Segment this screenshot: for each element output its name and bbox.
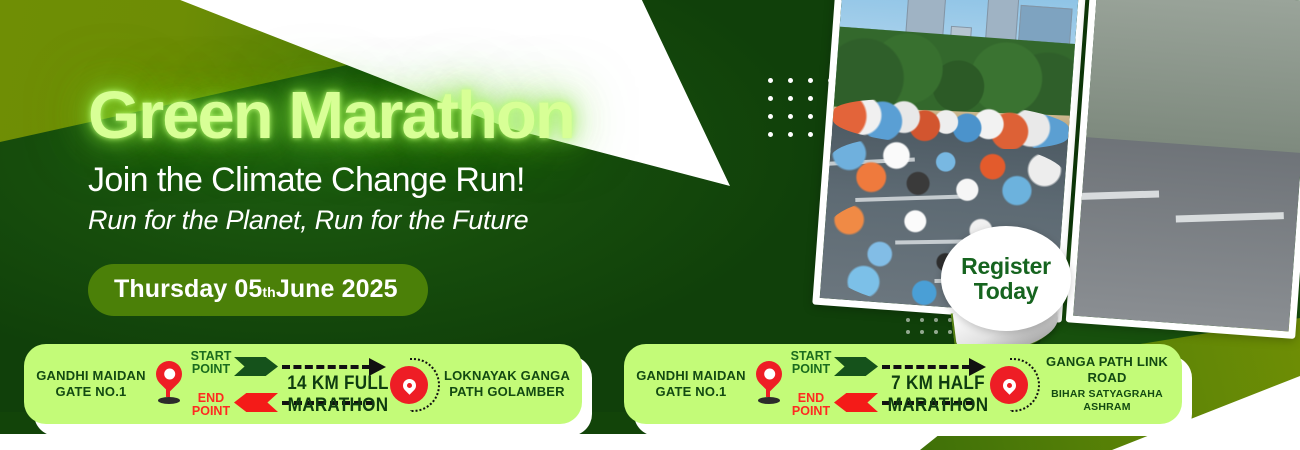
- marathon-banner: 40557 40472: [0, 0, 1300, 450]
- event-date-badge: Thursday 05 th June 2025: [88, 264, 428, 316]
- outbound-dashed-line-full: [282, 365, 370, 369]
- page-title: Green Marathon: [88, 82, 728, 149]
- map-pin-icon-full: [152, 359, 186, 409]
- destination-name-full: LOKNAYAK GANGA PATH GOLAMBER: [444, 368, 570, 399]
- badge-line-2: Today: [974, 279, 1039, 303]
- register-today-badge[interactable]: Register Today: [941, 226, 1071, 331]
- start-point-label-full: START POINT: [188, 350, 234, 376]
- route-destination-half: GANGA PATH LINK ROAD BIHAR SATYAGRAHA AS…: [1042, 354, 1172, 415]
- route-destination-full: LOKNAYAK GANGA PATH GOLAMBER: [442, 368, 572, 401]
- route-origin-full: GANDHI MAIDAN GATE NO.1: [32, 368, 150, 401]
- badge-circle[interactable]: Register Today: [941, 226, 1071, 331]
- destination-marker-icon-half: [990, 366, 1028, 404]
- end-point-label-full: END POINT: [188, 392, 234, 418]
- photo-runner-legs: 40557 40472: [1066, 0, 1300, 339]
- start-point-label-half: START POINT: [788, 350, 834, 376]
- destination-sub-half: BIHAR SATYAGRAHA ASHRAM: [1042, 388, 1172, 414]
- headline-block: Green Marathon Join the Climate Change R…: [88, 82, 728, 236]
- tagline: Run for the Planet, Run for the Future: [88, 205, 728, 236]
- outbound-dashed-line-half: [882, 365, 970, 369]
- route-origin-half: GANDHI MAIDAN GATE NO.1: [632, 368, 750, 401]
- destination-marker-icon-full: [390, 366, 428, 404]
- route-path-half: 7 KM HALF MARATHON: [834, 348, 1042, 420]
- route-card-half-marathon: GANDHI MAIDAN GATE NO.1 START POINT END …: [624, 344, 1182, 424]
- date-ordinal-suffix: th: [262, 284, 275, 300]
- route-point-labels-full: START POINT END POINT: [188, 350, 234, 419]
- route-card-full-marathon: GANDHI MAIDAN GATE NO.1 START POINT END …: [24, 344, 582, 424]
- end-point-label-half: END POINT: [788, 392, 834, 418]
- map-pin-icon-half: [752, 359, 786, 409]
- subtitle: Join the Climate Change Run!: [88, 163, 728, 199]
- route-point-labels-half: START POINT END POINT: [788, 350, 834, 419]
- date-month-year: June 2025: [276, 275, 398, 304]
- destination-name-half: GANGA PATH LINK ROAD: [1046, 354, 1168, 385]
- badge-line-1: Register: [961, 254, 1051, 278]
- route-path-full: 14 KM FULL MARATHON: [234, 348, 442, 420]
- date-weekday-day: Thursday 05: [114, 275, 262, 304]
